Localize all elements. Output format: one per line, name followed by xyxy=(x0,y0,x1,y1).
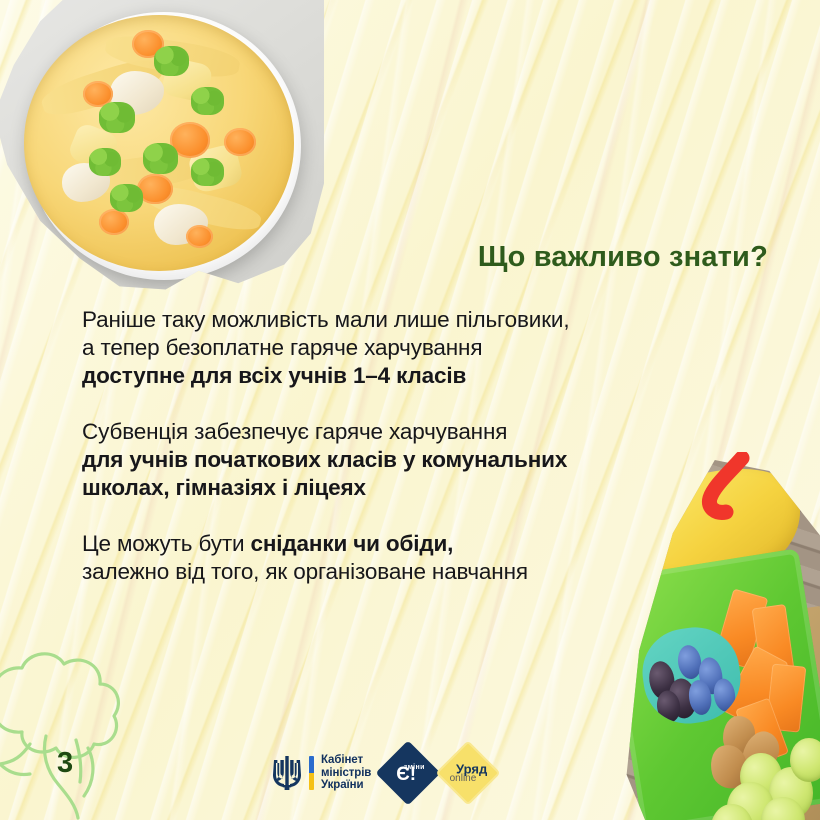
paragraph-2: Субвенція забезпечує гаряче харчування д… xyxy=(82,418,742,502)
cabinet-of-ministers-logo: Кабінет міністрів України xyxy=(272,754,371,792)
body-text: Раніше таку можливість мали лише пільгов… xyxy=(82,306,742,586)
paragraph-2-line-1: Субвенція забезпечує гаряче харчування xyxy=(82,419,507,444)
paragraph-3: Це можуть бути сніданки чи обіди, залежн… xyxy=(82,530,742,586)
paragraph-3-line-1-bold: сніданки чи обіди, xyxy=(251,531,454,556)
paragraph-1-line-1: Раніше таку можливість мали лише пільгов… xyxy=(82,307,569,332)
page-number: 3 xyxy=(57,747,73,780)
ye-label: Є! xyxy=(397,765,417,784)
paragraph-1: Раніше таку можливість мали лише пільгов… xyxy=(82,306,742,390)
trident-icon xyxy=(272,754,302,792)
flag-bar xyxy=(309,756,314,790)
cabinet-logo-text: Кабінет міністрів України xyxy=(321,754,371,792)
slide-root: Що важливо знати? Раніше таку можливість… xyxy=(0,0,820,820)
uryad-online-logo: Уряд online xyxy=(436,740,501,805)
footer-logos: Кабінет міністрів України зміни Є! Уряд … xyxy=(272,750,491,796)
cabinet-logo-line-1: Кабінет xyxy=(321,754,371,767)
zminy-ye-logo: зміни Є! xyxy=(376,740,441,805)
paragraph-3-line-1-plain: Це можуть бути xyxy=(82,531,251,556)
paragraph-2-line-3: школах, гімназіях і ліцеях xyxy=(82,475,366,500)
cabinet-logo-line-3: України xyxy=(321,779,371,792)
online-label: online xyxy=(450,772,477,783)
paragraph-1-line-3: доступне для всіх учнів 1–4 класів xyxy=(82,363,466,388)
soup-photo xyxy=(0,0,324,302)
paragraph-1-line-2: а тепер безоплатне гаряче харчування xyxy=(82,335,482,360)
page-title: Що важливо знати? xyxy=(478,241,768,274)
paragraph-3-line-2: залежно від того, як організоване навчан… xyxy=(82,559,528,584)
broccoli-watermark-icon xyxy=(0,640,174,820)
paragraph-2-line-2: для учнів початкових класів у комунальни… xyxy=(82,447,567,472)
cabinet-logo-line-2: міністрів xyxy=(321,767,371,780)
